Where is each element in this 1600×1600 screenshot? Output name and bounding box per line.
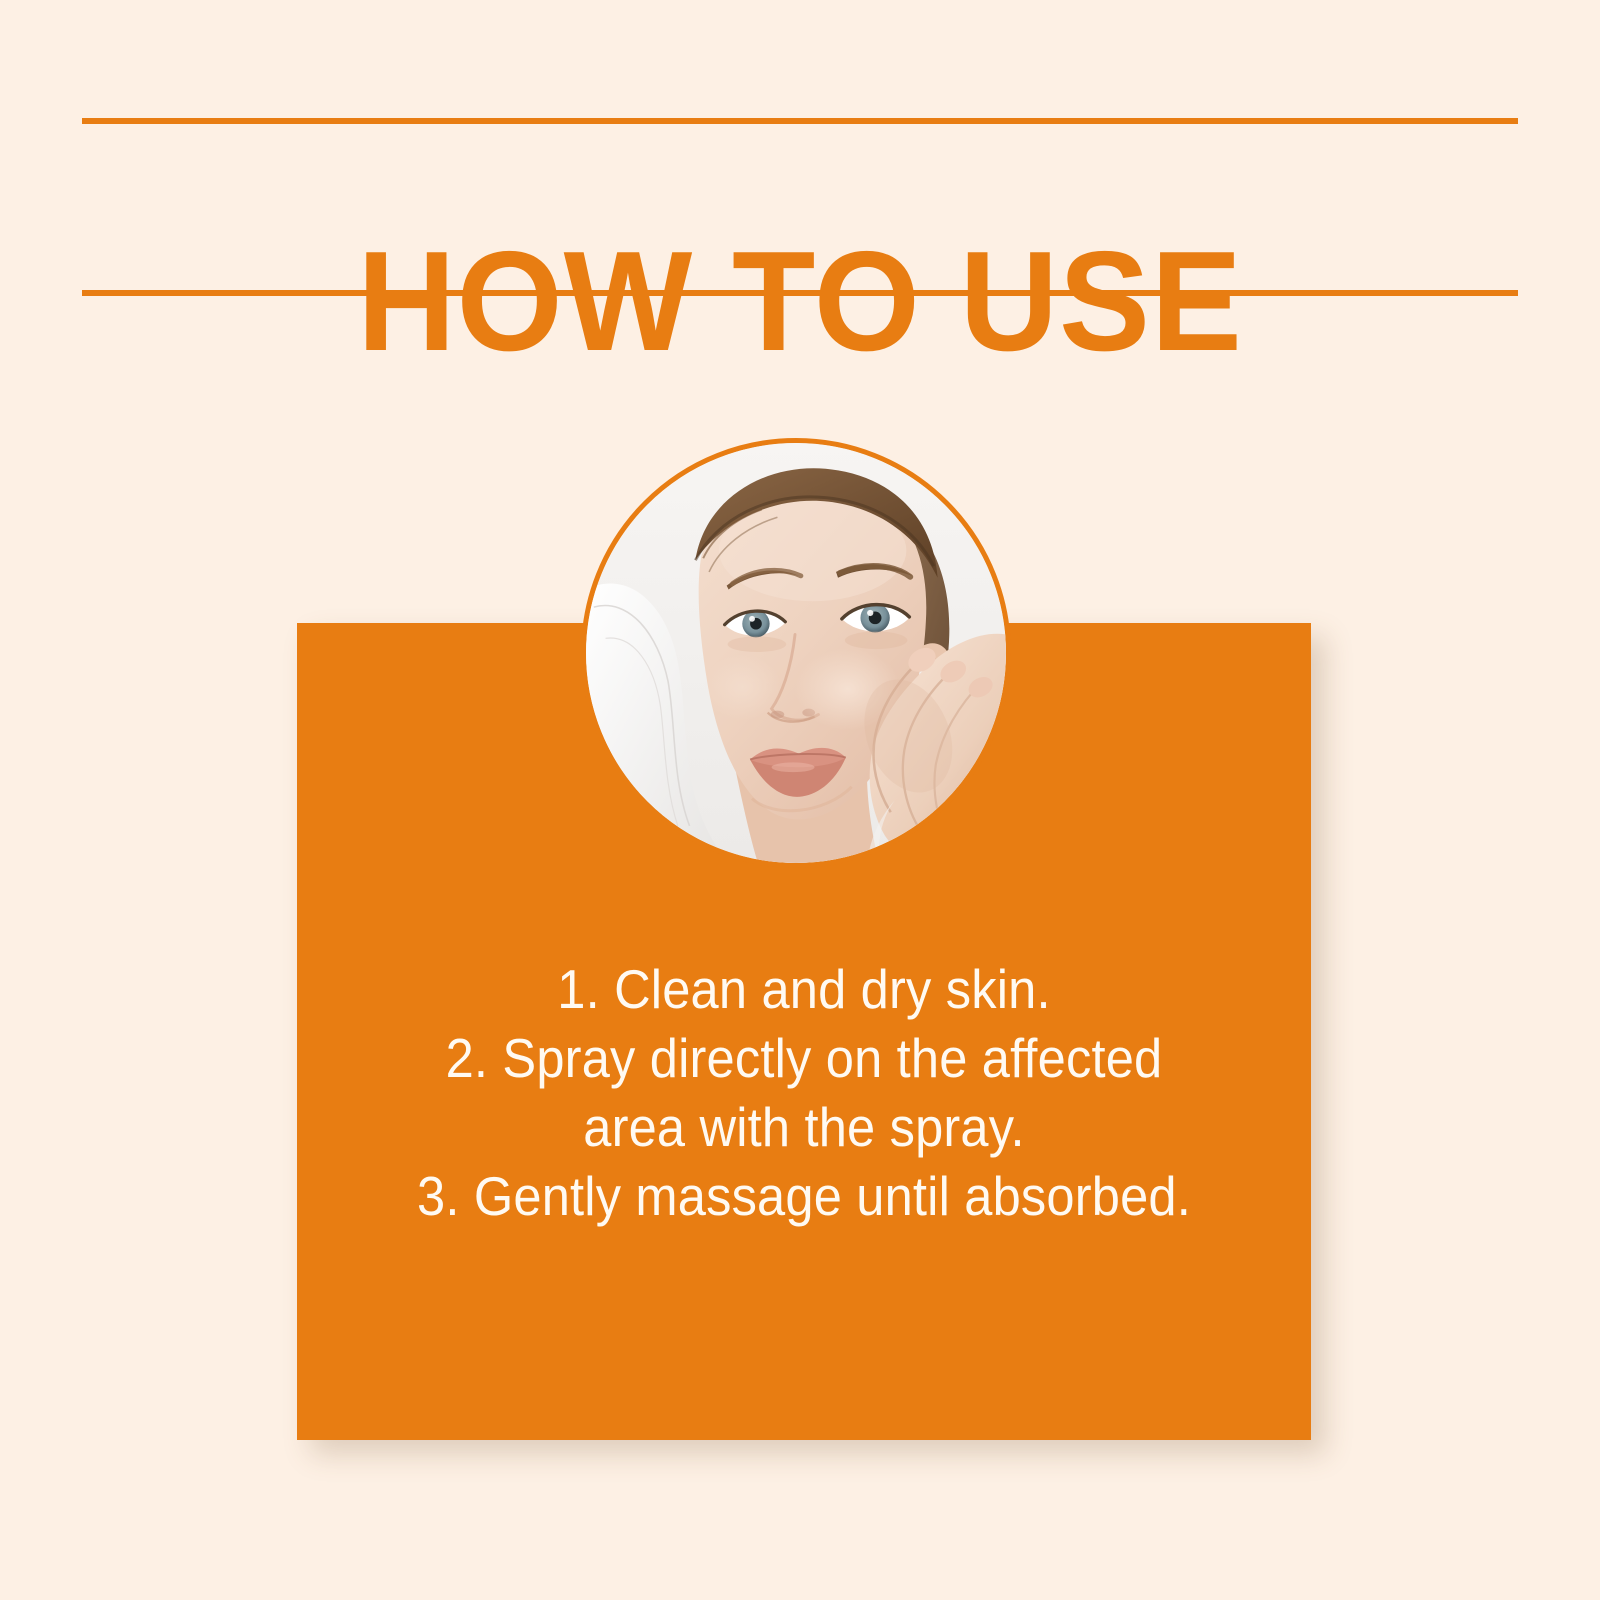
- instruction-step-2-part-2: area with the spray.: [338, 1093, 1271, 1162]
- instructions-list: 1. Clean and dry skin. 2. Spray directly…: [338, 955, 1271, 1231]
- portrait-photo-frame: [581, 438, 1011, 868]
- instruction-step-1: 1. Clean and dry skin.: [338, 955, 1271, 1024]
- instruction-step-3: 3. Gently massage until absorbed.: [338, 1162, 1271, 1231]
- title-rule-bottom: [82, 290, 1518, 296]
- instruction-step-2-part-1: 2. Spray directly on the affected: [338, 1024, 1271, 1093]
- title-rule-top: [82, 118, 1518, 124]
- page-title: HOW TO USE: [111, 219, 1490, 385]
- portrait-photo: [586, 443, 1006, 863]
- how-to-use-poster: HOW TO USE 1. Clean and dry skin. 2. Spr…: [0, 0, 1600, 1600]
